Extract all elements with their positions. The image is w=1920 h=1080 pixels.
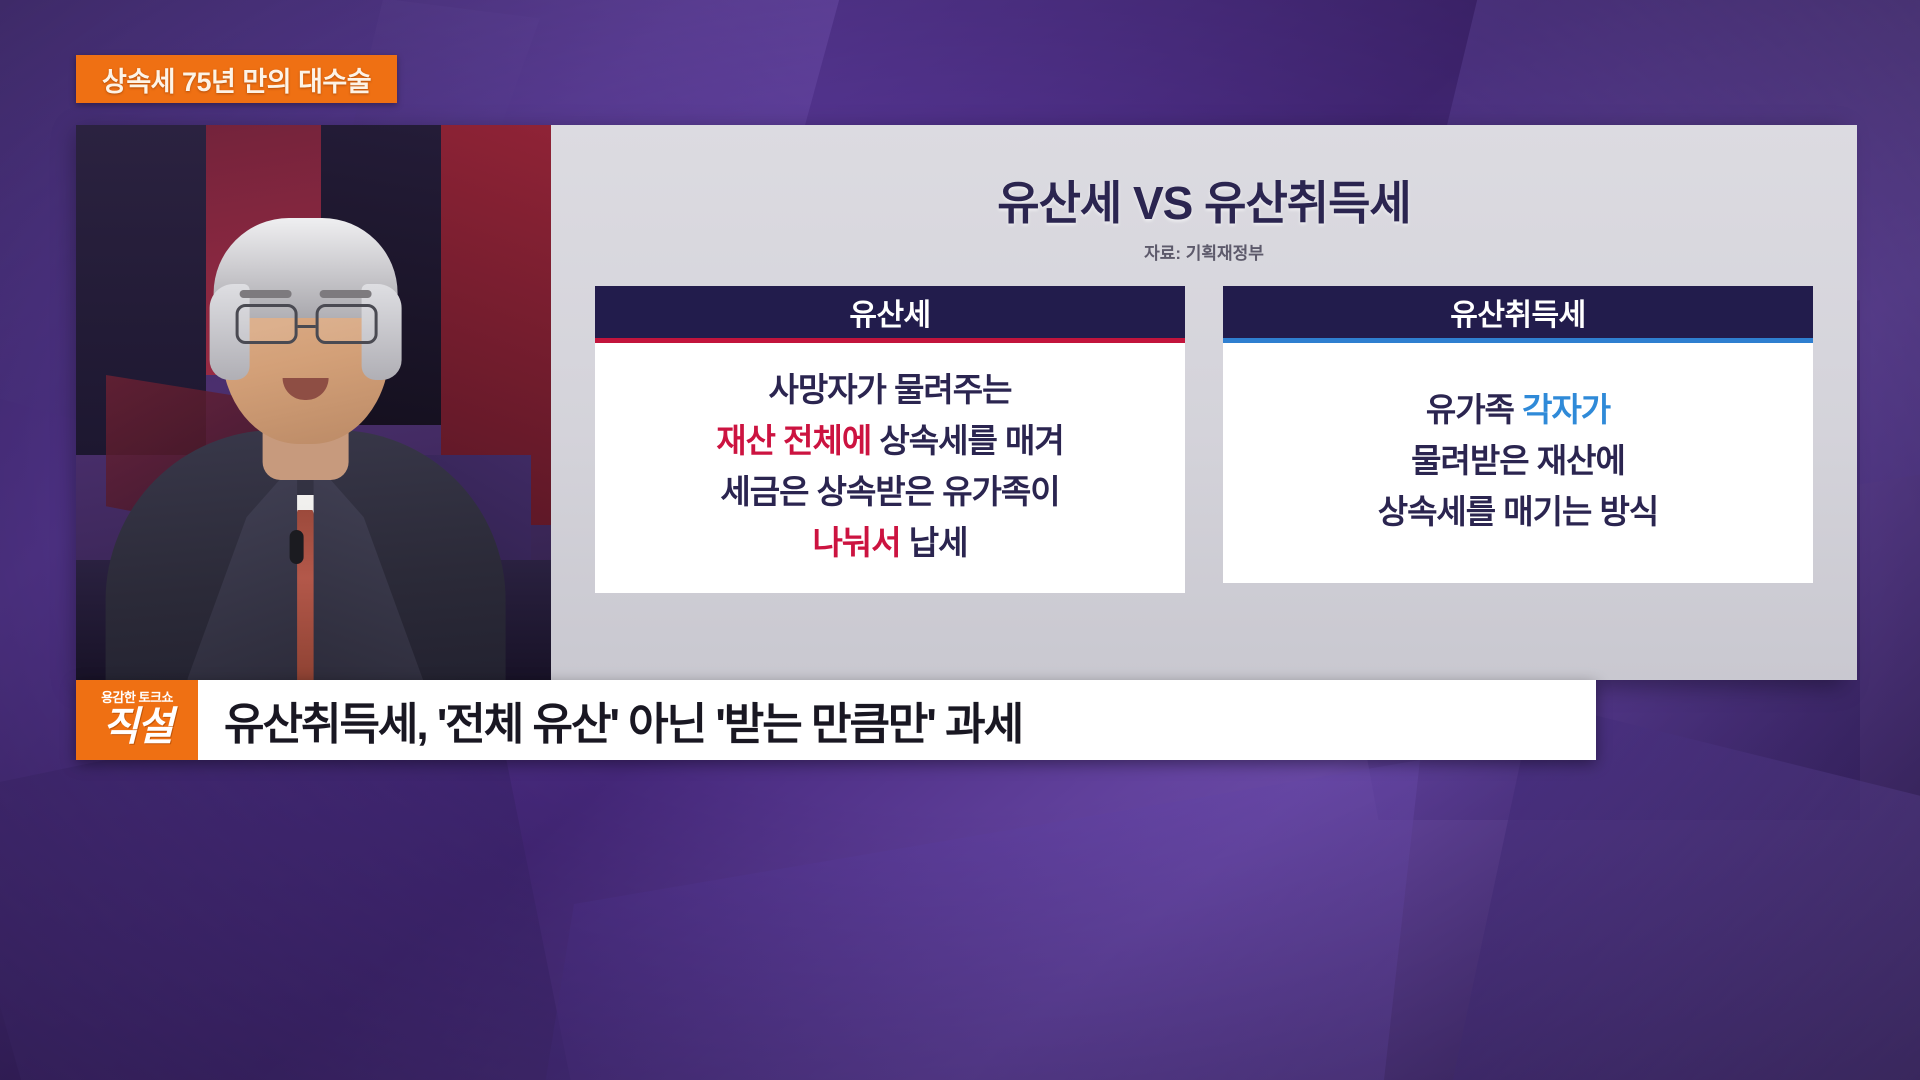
guest-video-feed — [76, 125, 551, 680]
panel-line-segment: 상속세를 매겨 — [871, 422, 1064, 459]
panel-line-segment: 사망자가 물려주는 — [768, 371, 1011, 408]
panel-line: 나눠서 납세 — [611, 524, 1169, 563]
guest-speaker — [95, 160, 515, 680]
panel-line-segment-emphasis: 나눠서 — [813, 524, 901, 561]
infographic-panel: 유산세 VS 유산취득세 자료: 기획재정부 유산세 사망자가 물려주는 재산 … — [551, 125, 1857, 680]
panel-line: 사망자가 물려주는 — [611, 371, 1169, 410]
panel-line: 물려받은 재산에 — [1239, 442, 1797, 481]
panel-line-segment-emphasis: 각자가 — [1522, 391, 1610, 428]
panel-line: 재산 전체에 상속세를 매겨 — [611, 422, 1169, 461]
panel-body-estate-tax: 사망자가 물려주는 재산 전체에 상속세를 매겨 세금은 상속받은 유가족이 나… — [595, 343, 1185, 593]
headline-bar: 유산취득세, '전체 유산' 아닌 '받는 만큼만' 과세 — [198, 680, 1596, 760]
show-logo-subtitle: 용감한 토크쇼 — [101, 691, 173, 704]
guest-glasses-lens-left — [235, 304, 297, 344]
panel-line: 유가족 각자가 — [1239, 391, 1797, 430]
panel-header-acquisition-tax: 유산취득세 — [1223, 286, 1813, 338]
lapel-microphone-icon — [289, 530, 303, 564]
broadcast-stage: 유산세 VS 유산취득세 자료: 기획재정부 유산세 사망자가 물려주는 재산 … — [76, 125, 1844, 680]
topic-banner-text: 상속세 75년 만의 대수술 — [102, 60, 371, 99]
panel-line-segment-emphasis: 재산 전체에 — [716, 422, 871, 459]
panel-header-estate-tax: 유산세 — [595, 286, 1185, 338]
panel-line-segment: 납세 — [901, 524, 968, 561]
panel-line: 세금은 상속받은 유가족이 — [611, 473, 1169, 512]
panel-line-segment: 물려받은 재산에 — [1411, 442, 1625, 479]
panel-header-label: 유산취득세 — [1450, 290, 1586, 334]
panel-body-acquisition-tax: 유가족 각자가 물려받은 재산에 상속세를 매기는 방식 — [1223, 343, 1813, 583]
chart-source-label: 자료: 기획재정부 — [595, 239, 1813, 264]
lower-third-ticker: 용감한 토크쇼 직설 유산취득세, '전체 유산' 아닌 '받는 만큼만' 과세 — [76, 680, 1596, 760]
headline-text: 유산취득세, '전체 유산' 아닌 '받는 만큼만' 과세 — [224, 688, 1022, 752]
panel-line-segment: 유가족 — [1426, 391, 1522, 428]
guest-eyebrow-left — [239, 290, 291, 298]
guest-glasses-bridge — [297, 325, 315, 328]
guest-eyebrow-right — [319, 290, 371, 298]
guest-glasses-lens-right — [315, 304, 377, 344]
topic-banner: 상속세 75년 만의 대수술 — [76, 55, 397, 103]
panel-line-segment: 세금은 상속받은 유가족이 — [720, 473, 1059, 510]
panel-line: 상속세를 매기는 방식 — [1239, 493, 1797, 532]
panel-inheritance-acquisition-tax: 유산취득세 유가족 각자가 물려받은 재산에 상속세를 매기는 방식 — [1223, 286, 1813, 593]
panel-inheritance-estate-tax: 유산세 사망자가 물려주는 재산 전체에 상속세를 매겨 세금은 상속받은 유가… — [595, 286, 1185, 593]
panel-line-segment: 상속세를 매기는 방식 — [1378, 493, 1659, 530]
panel-header-label: 유산세 — [849, 290, 930, 334]
show-logo-title: 직설 — [102, 707, 172, 747]
chart-title: 유산세 VS 유산취득세 — [595, 179, 1813, 227]
show-logo: 용감한 토크쇼 직설 — [76, 680, 198, 760]
comparison-panels: 유산세 사망자가 물려주는 재산 전체에 상속세를 매겨 세금은 상속받은 유가… — [595, 286, 1813, 593]
